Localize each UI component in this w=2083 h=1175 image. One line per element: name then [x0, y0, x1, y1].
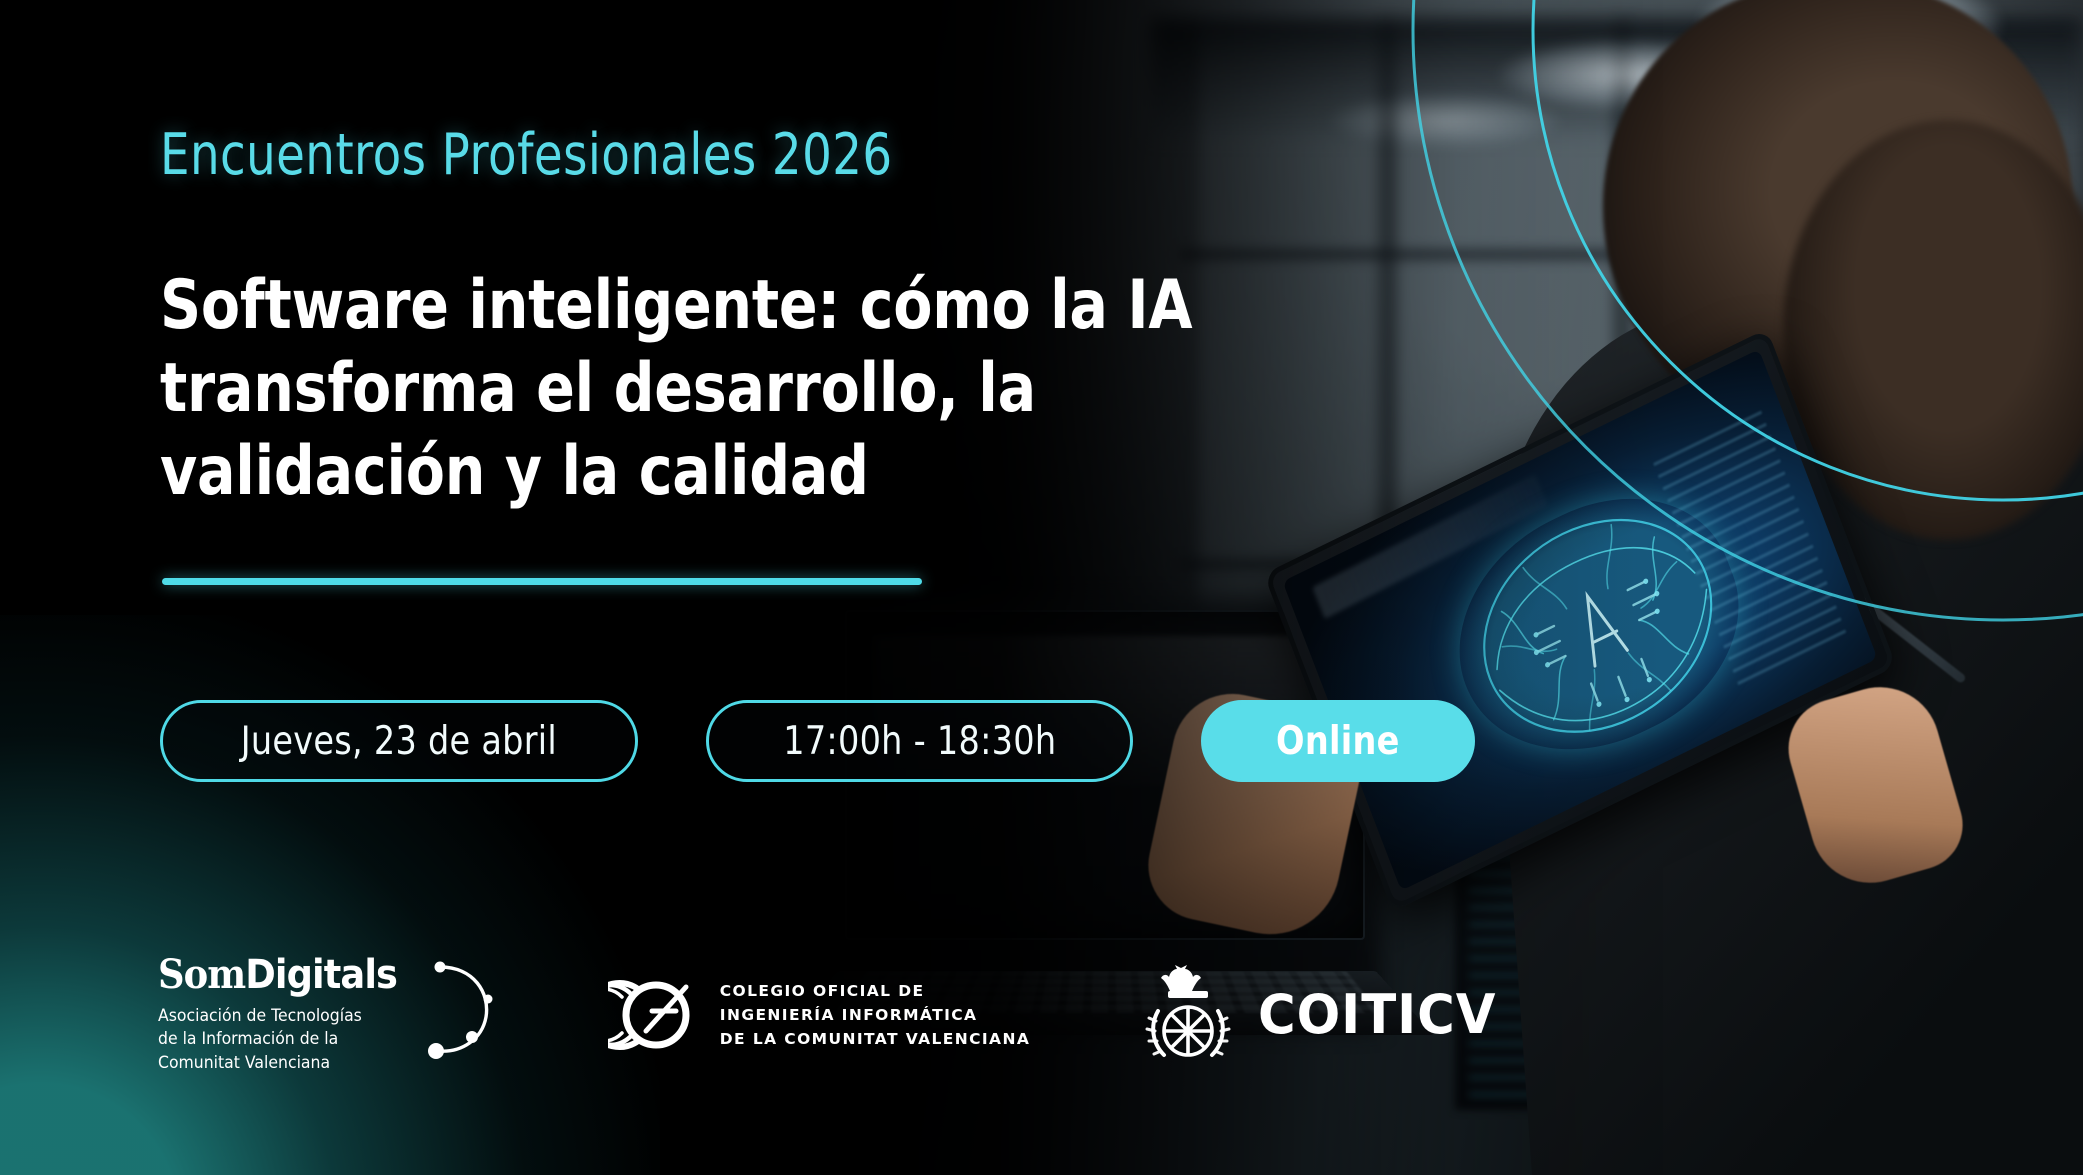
logo-somdigitals[interactable]: SomDigitals Asociación de Tecnologías de… [158, 955, 498, 1074]
somdigitals-word-digitals: Digitals [245, 952, 397, 998]
accent-divider [162, 578, 922, 585]
somdigitals-word-som: Som [158, 951, 245, 998]
event-promo-banner: Encuentros Profesionales 2026 Software i… [0, 0, 2083, 1175]
colegio-line-3: DE LA COMUNITAT VALENCIANA [720, 1027, 1030, 1051]
time-badge: 17:00h - 18:30h [706, 700, 1134, 782]
crowned-crest-icon [1140, 963, 1236, 1067]
format-button-online[interactable]: Online [1201, 700, 1475, 782]
somdigitals-subtitle-line-2: de la Información de la [158, 1027, 362, 1050]
eyebrow-title: Encuentros Profesionales 2026 [160, 122, 893, 188]
logo-coiticv[interactable]: COITICV [1140, 963, 1509, 1067]
headline-line-2: transforma el desarrollo, la [160, 348, 1050, 431]
logo-colegio-oficial[interactable]: COLEGIO OFICIAL DE INGENIERÍA INFORMÁTIC… [608, 969, 1030, 1061]
somdigitals-subtitle-line-1: Asociación de Tecnologías [158, 1004, 362, 1027]
headline-line-3: validación y la calidad [160, 431, 1050, 514]
colegio-line-1: COLEGIO OFICIAL DE [720, 979, 1030, 1003]
network-nodes-icon [420, 959, 498, 1059]
event-meta-row: Jueves, 23 de abril 17:00h - 18:30h Onli… [160, 700, 1475, 782]
date-label: Jueves, 23 de abril [241, 719, 557, 764]
colegio-circle-mark-icon [608, 969, 700, 1061]
coiticv-wordmark: COITICV [1258, 983, 1496, 1046]
somdigitals-subtitle-line-3: Comunitat Valenciana [158, 1051, 362, 1074]
time-label: 17:00h - 18:30h [783, 719, 1056, 764]
somdigitals-subtitle: Asociación de Tecnologías de la Informac… [158, 1004, 362, 1074]
format-label: Online [1276, 719, 1400, 764]
colegio-wordmark: COLEGIO OFICIAL DE INGENIERÍA INFORMÁTIC… [720, 979, 1030, 1051]
colegio-line-2: INGENIERÍA INFORMÁTICA [720, 1003, 1030, 1027]
sponsor-logos: SomDigitals Asociación de Tecnologías de… [158, 955, 1509, 1074]
date-badge: Jueves, 23 de abril [160, 700, 638, 782]
page-title: Software inteligente: cómo la IA transfo… [160, 265, 1050, 514]
content-column: Encuentros Profesionales 2026 Software i… [0, 0, 1200, 1175]
headline-line-1: Software inteligente: cómo la IA [160, 265, 1050, 348]
somdigitals-wordmark: SomDigitals [158, 955, 397, 995]
